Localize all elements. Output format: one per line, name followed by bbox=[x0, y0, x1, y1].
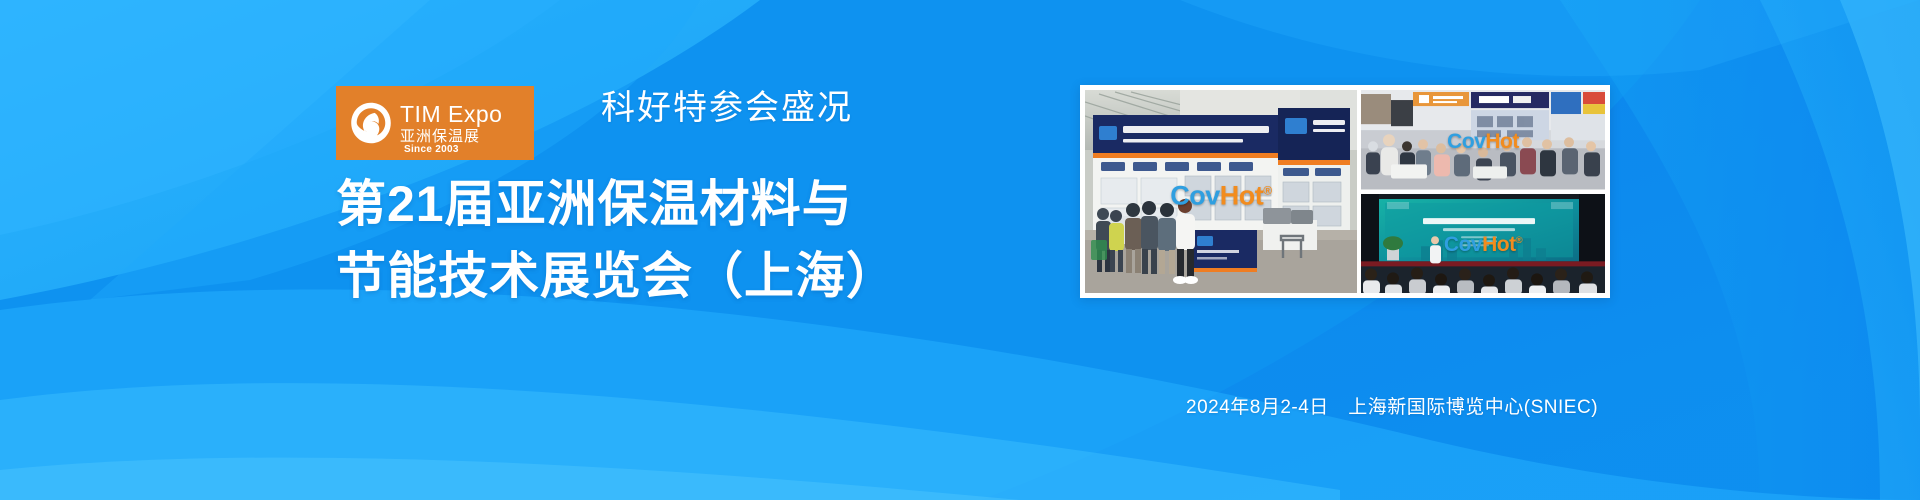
logo-name-cn: 亚洲保温展 bbox=[400, 129, 502, 144]
exhibition-banner: TIM Expo 亚洲保温展 Since 2003 科好特参会盛况 第21届亚洲… bbox=[0, 0, 1920, 500]
page-title-line-2: 节能技术展览会（上海） bbox=[336, 240, 897, 312]
page-title: 第21届亚洲保温材料与 节能技术展览会（上海） bbox=[336, 168, 897, 312]
kicker-text: 科好特参会盛况 bbox=[601, 80, 853, 129]
photo-collage: CovHot® bbox=[1080, 85, 1610, 298]
booth-photo[interactable]: CovHot® bbox=[1085, 90, 1357, 293]
logo-name-en: TIM Expo bbox=[400, 103, 502, 126]
booth-photo-image bbox=[1085, 90, 1357, 293]
tim-expo-logo[interactable]: TIM Expo 亚洲保温展 Since 2003 bbox=[336, 86, 534, 160]
exhibition-hall-image bbox=[1361, 90, 1605, 190]
forum-stage-photo[interactable]: CovHot® bbox=[1361, 194, 1605, 294]
collage-right-column: CovHot bbox=[1361, 90, 1605, 293]
tim-expo-swirl-icon bbox=[348, 100, 394, 146]
logo-since-text: Since 2003 bbox=[404, 144, 459, 155]
forum-stage-image bbox=[1361, 194, 1605, 294]
page-title-line-1: 第21届亚洲保温材料与 bbox=[336, 168, 897, 240]
date-venue-text: 2024年8月2-4日 上海新国际博览中心(SNIEC) bbox=[1186, 392, 1598, 419]
exhibition-hall-photo[interactable]: CovHot bbox=[1361, 90, 1605, 190]
logo-wordmark: TIM Expo 亚洲保温展 bbox=[400, 103, 502, 144]
content-column: TIM Expo 亚洲保温展 Since 2003 科好特参会盛况 第21届亚洲… bbox=[336, 0, 1036, 500]
